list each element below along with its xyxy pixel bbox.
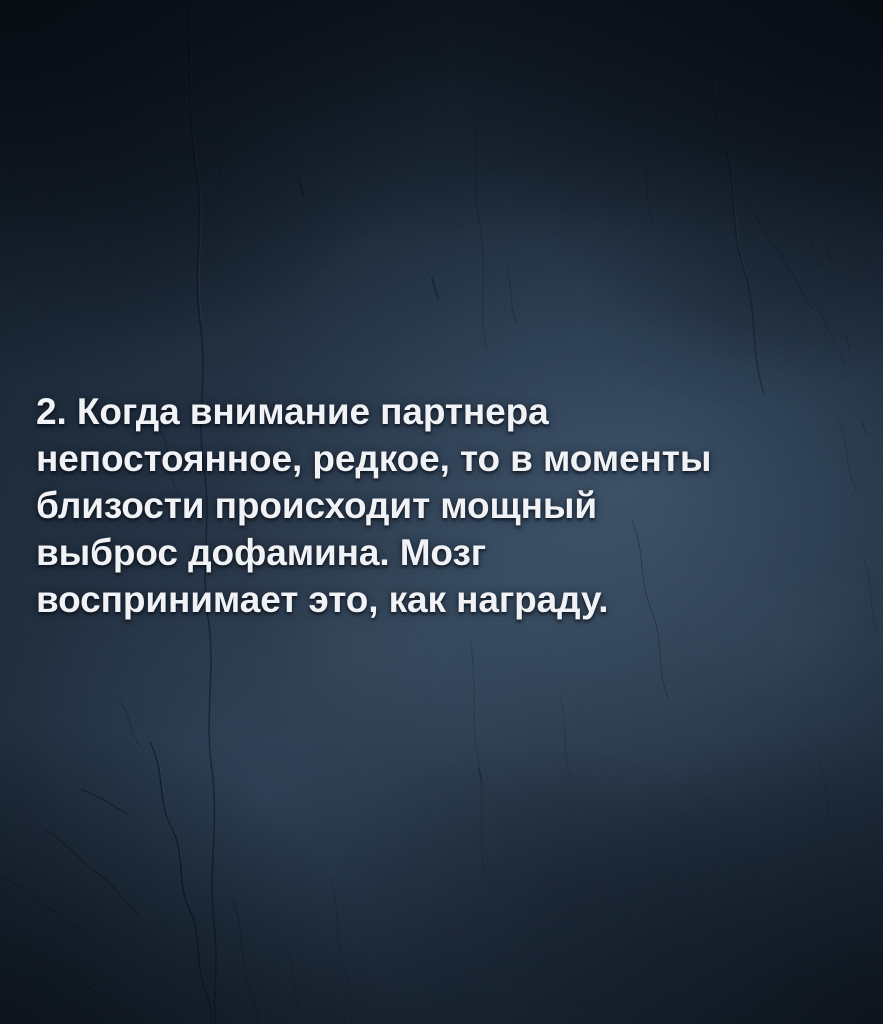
quote-line-1: 2. Когда внимание партнера xyxy=(36,388,816,435)
quote-line-2: непостоянное, редкое, то в моменты xyxy=(36,435,816,482)
quote-poster: 2. Когда внимание партнера непостоянное,… xyxy=(0,0,883,1024)
quote-line-3: близости происходит мощный xyxy=(36,482,816,529)
quote-line-5: воспринимает это, как награду. xyxy=(36,576,816,623)
quote-text-block: 2. Когда внимание партнера непостоянное,… xyxy=(36,388,816,623)
quote-line-4: выброс дофамина. Мозг xyxy=(36,529,816,576)
